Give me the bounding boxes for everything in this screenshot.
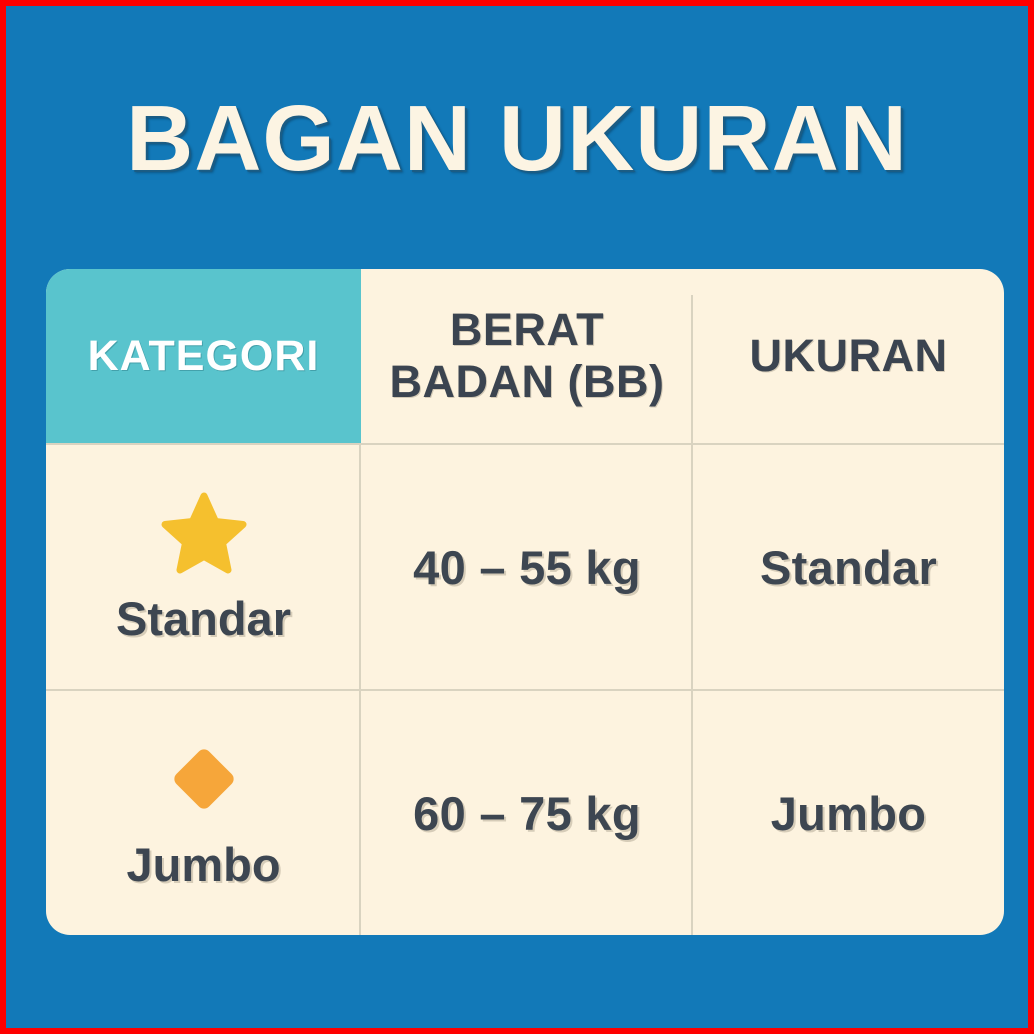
header-cell-kategori: KATEGORI xyxy=(46,269,361,443)
size-value-standar: Standar xyxy=(760,540,937,595)
size-value-jumbo: Jumbo xyxy=(771,786,927,841)
header-cell-ukuran: UKURAN xyxy=(693,269,1004,443)
cell-size-jumbo: Jumbo xyxy=(693,691,1004,935)
category-label-jumbo: Jumbo xyxy=(126,837,280,892)
cell-category-jumbo: Jumbo xyxy=(46,691,361,935)
header-label-berat: BERAT xyxy=(450,304,604,356)
table-row: Jumbo 60 – 75 kg Jumbo xyxy=(46,689,1004,935)
cell-category-standar: Standar xyxy=(46,445,361,689)
header-cell-berat-badan: BERAT BADAN (BB) xyxy=(361,269,693,443)
category-label-standar: Standar xyxy=(116,591,291,646)
star-icon xyxy=(158,489,250,577)
header-label-badan-bb: BADAN (BB) xyxy=(390,356,665,408)
table-row: Standar 40 – 55 kg Standar xyxy=(46,443,1004,689)
header-label-kategori: KATEGORI xyxy=(88,332,320,381)
cell-size-standar: Standar xyxy=(693,445,1004,689)
cell-weight-standar: 40 – 55 kg xyxy=(361,445,693,689)
table-header-row: KATEGORI BERAT BADAN (BB) UKURAN xyxy=(46,269,1004,443)
weight-value-standar: 40 – 55 kg xyxy=(413,540,641,595)
size-chart-table: KATEGORI BERAT BADAN (BB) UKURAN Standar xyxy=(46,269,1004,935)
cell-weight-jumbo: 60 – 75 kg xyxy=(361,691,693,935)
weight-value-jumbo: 60 – 75 kg xyxy=(413,786,641,841)
header-label-ukuran: UKURAN xyxy=(750,330,948,382)
size-chart-poster: BAGAN UKURAN KATEGORI BERAT BADAN (BB) U… xyxy=(0,0,1034,1034)
page-title: BAGAN UKURAN xyxy=(6,90,1028,188)
diamond-icon xyxy=(158,735,250,823)
